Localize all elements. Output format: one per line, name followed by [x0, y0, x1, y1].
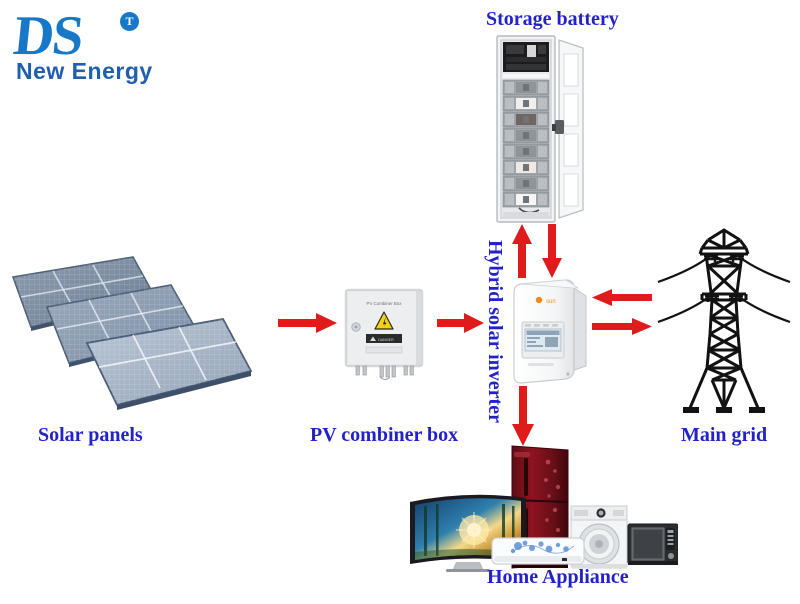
label-pv-combiner-box: PV combiner box — [310, 424, 458, 447]
flow-arrow-panels-to-combiner — [278, 313, 338, 333]
brand-mark: DS — [11, 8, 84, 64]
svg-text:PV Combiner Box: PV Combiner Box — [367, 301, 403, 306]
label-hybrid-solar-inverter: Hybrid solar inverter — [483, 240, 506, 423]
hybrid-inverter-icon: sun — [508, 278, 594, 386]
transmission-tower-icon — [650, 226, 798, 416]
svg-text:DANGER: DANGER — [378, 338, 394, 342]
label-home-appliance: Home Appliance — [487, 566, 629, 589]
trademark-icon: T — [120, 12, 139, 31]
flow-arrow-inverter-to-grid — [592, 318, 652, 335]
home-appliances-icon — [408, 440, 678, 572]
flow-arrow-combiner-to-inverter — [437, 313, 485, 333]
label-solar-panels: Solar panels — [38, 424, 143, 447]
flow-arrow-grid-to-inverter — [592, 289, 652, 306]
brand-logo: DS T New Energy — [8, 6, 188, 90]
flow-arrow-battery-to-inverter — [542, 224, 562, 278]
flow-arrow-inverter-to-battery — [512, 224, 532, 278]
svg-text:sun: sun — [546, 299, 556, 305]
diagram-canvas: DS T New Energy — [0, 0, 800, 604]
pv-combiner-box-icon: PV Combiner Box DANGER — [340, 288, 430, 384]
battery-cabinet-icon — [485, 34, 595, 224]
brand-subtitle: New Energy — [16, 58, 153, 84]
flow-arrow-inverter-to-home — [512, 386, 534, 446]
label-storage-battery: Storage battery — [486, 8, 619, 31]
label-main-grid: Main grid — [681, 424, 767, 447]
solar-panel-array-icon — [5, 235, 270, 410]
